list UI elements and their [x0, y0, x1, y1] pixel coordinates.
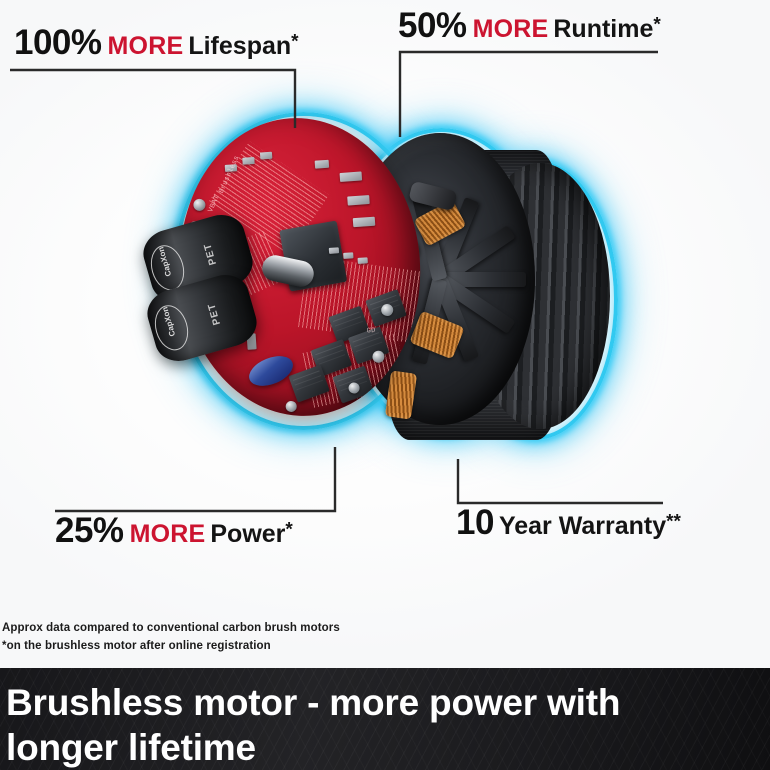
callout-label: Runtime: [553, 15, 653, 43]
callout-runtime: 50%MORERuntime*: [398, 8, 661, 43]
footnote-line-1: Approx data compared to conventional car…: [2, 620, 340, 638]
callout-value: 100%: [14, 23, 102, 62]
bottom-banner: Brushless motor - more power with longer…: [0, 668, 770, 770]
callout-value: 10: [456, 503, 494, 542]
infographic-page: Brushless VBAT TOP1 GD CapXon PET CapXon…: [0, 0, 770, 770]
callout-emphasis: MORE: [108, 32, 184, 60]
callout-label: Lifespan: [188, 32, 291, 60]
callout-footnote-marker: *: [285, 520, 292, 541]
callout-emphasis: MORE: [473, 15, 549, 43]
callout-power: 25%MOREPower*: [55, 513, 293, 548]
callout-footnote-marker: *: [291, 32, 298, 53]
capacitor-marking: PET: [206, 302, 223, 327]
pcb-silkscreen-ref: GD: [366, 327, 376, 336]
banner-headline: Brushless motor - more power with longer…: [6, 680, 706, 770]
callout-lifespan: 100%MORELifespan*: [14, 25, 299, 60]
callout-footnote-marker: **: [666, 512, 681, 533]
footnote-line-2: *on the brushless motor after online reg…: [2, 638, 340, 656]
footnotes: Approx data compared to conventional car…: [2, 620, 340, 656]
callout-warranty: 10Year Warranty**: [456, 505, 681, 540]
callout-value: 50%: [398, 6, 467, 45]
callout-value: 25%: [55, 511, 124, 550]
capacitor-marking: PET: [202, 242, 219, 267]
callout-label: Power: [210, 520, 285, 548]
callout-label: Year Warranty: [499, 512, 666, 540]
callout-emphasis: MORE: [130, 520, 206, 548]
callout-footnote-marker: *: [653, 15, 660, 36]
